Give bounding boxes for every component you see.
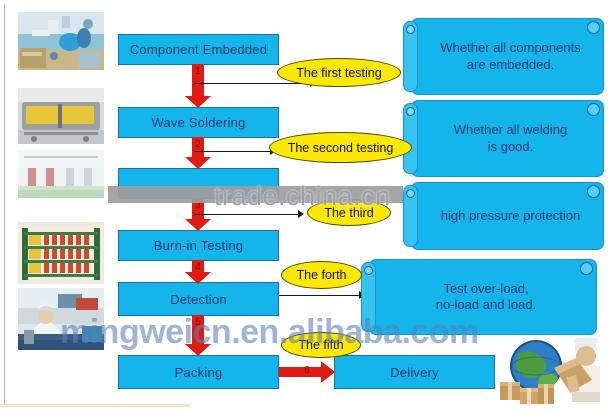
connector-line bbox=[194, 214, 300, 215]
watermark-alibaba: mingweicn.en.alibaba.com bbox=[60, 313, 479, 352]
arrow-head bbox=[185, 96, 211, 108]
process-box-label: Delivery bbox=[390, 365, 439, 380]
flow-arrow-4: 4 bbox=[185, 260, 211, 284]
connector-line bbox=[194, 151, 272, 152]
scroll-corner-icon bbox=[587, 103, 600, 116]
arrow-number: 1 bbox=[185, 66, 211, 77]
photo-2 bbox=[18, 88, 104, 144]
flow-arrow-6: 6 bbox=[279, 361, 335, 383]
process-box-delivery[interactable]: Delivery bbox=[334, 355, 495, 389]
arrow-head bbox=[185, 272, 211, 284]
photo-2-image bbox=[18, 88, 104, 144]
check-line-1: Whether all welding bbox=[454, 122, 567, 137]
photo-1-image bbox=[18, 12, 104, 70]
arrow-head bbox=[185, 157, 211, 169]
testing-label-first[interactable]: The first testing bbox=[277, 58, 401, 87]
process-box-label: Packing bbox=[175, 365, 223, 380]
diagram-canvas: Component Embedded Wave Soldering Burn-i… bbox=[0, 0, 611, 411]
arrow-head bbox=[185, 219, 211, 231]
connector-line bbox=[194, 83, 312, 84]
process-box-burn-in-testing[interactable]: Burn-in Testing bbox=[118, 230, 279, 261]
connector-4 bbox=[279, 290, 369, 300]
scroll-corner-icon bbox=[587, 185, 600, 198]
process-box-label: Component Embedded bbox=[130, 42, 267, 57]
testing-label-forth[interactable]: The forth bbox=[281, 261, 362, 289]
delivery-illustration bbox=[496, 330, 608, 408]
process-box-detection[interactable]: Detection bbox=[118, 282, 279, 316]
check-box-text: Whether all components are embedded. bbox=[440, 40, 580, 73]
process-box-wave-soldering[interactable]: Wave Soldering bbox=[118, 107, 279, 138]
process-box-packing[interactable]: Packing bbox=[118, 355, 279, 389]
scroll-curl-icon bbox=[403, 185, 418, 247]
testing-label-text: The forth bbox=[296, 268, 346, 282]
process-box-component-embedded[interactable]: Component Embedded bbox=[118, 34, 279, 65]
testing-label-second[interactable]: The second testing bbox=[269, 132, 412, 163]
scroll-curl-icon bbox=[403, 103, 418, 174]
check-line-2: is good. bbox=[488, 139, 534, 154]
check-box-text: Whether all welding is good. bbox=[454, 122, 567, 155]
check-line-1: Test over-load, bbox=[443, 281, 528, 296]
photo-4 bbox=[18, 222, 104, 284]
check-box-welding-good[interactable]: Whether all welding is good. bbox=[411, 100, 604, 177]
delivery-illustration-image bbox=[496, 330, 608, 408]
check-box-text: Test over-load, no-load and load. bbox=[436, 281, 536, 314]
connector-line bbox=[279, 295, 361, 296]
process-box-label: Burn-in Testing bbox=[154, 238, 243, 253]
page-frame-left-rule bbox=[4, 4, 5, 404]
process-box-label: Wave Soldering bbox=[151, 115, 245, 130]
process-box-label: Detection bbox=[170, 292, 227, 307]
testing-label-text: The second testing bbox=[288, 141, 394, 155]
photo-1 bbox=[18, 12, 104, 70]
connector-2 bbox=[194, 146, 280, 156]
check-line-1: Whether all components bbox=[440, 40, 580, 55]
page-frame-bottom-rule bbox=[0, 404, 190, 407]
scroll-curl-icon bbox=[403, 21, 418, 92]
photo-3 bbox=[18, 150, 104, 198]
courier-icon bbox=[554, 338, 600, 402]
check-line-2: no-load and load. bbox=[436, 297, 536, 312]
check-box-high-pressure-protection[interactable]: high pressure protection bbox=[411, 182, 604, 250]
arrow-number: 6 bbox=[279, 365, 335, 376]
scroll-corner-icon bbox=[580, 262, 593, 275]
photo-3-image bbox=[18, 150, 104, 198]
watermark-trade-china: trade.china.cn bbox=[214, 181, 391, 212]
check-box-text: high pressure protection bbox=[441, 208, 580, 224]
arrow-number: 4 bbox=[185, 262, 211, 273]
photo-4-image bbox=[18, 222, 104, 284]
check-box-components-embedded[interactable]: Whether all components are embedded. bbox=[411, 18, 604, 95]
testing-label-text: The first testing bbox=[296, 66, 381, 80]
check-line-2: are embedded. bbox=[467, 57, 554, 72]
scroll-corner-icon bbox=[587, 21, 600, 34]
